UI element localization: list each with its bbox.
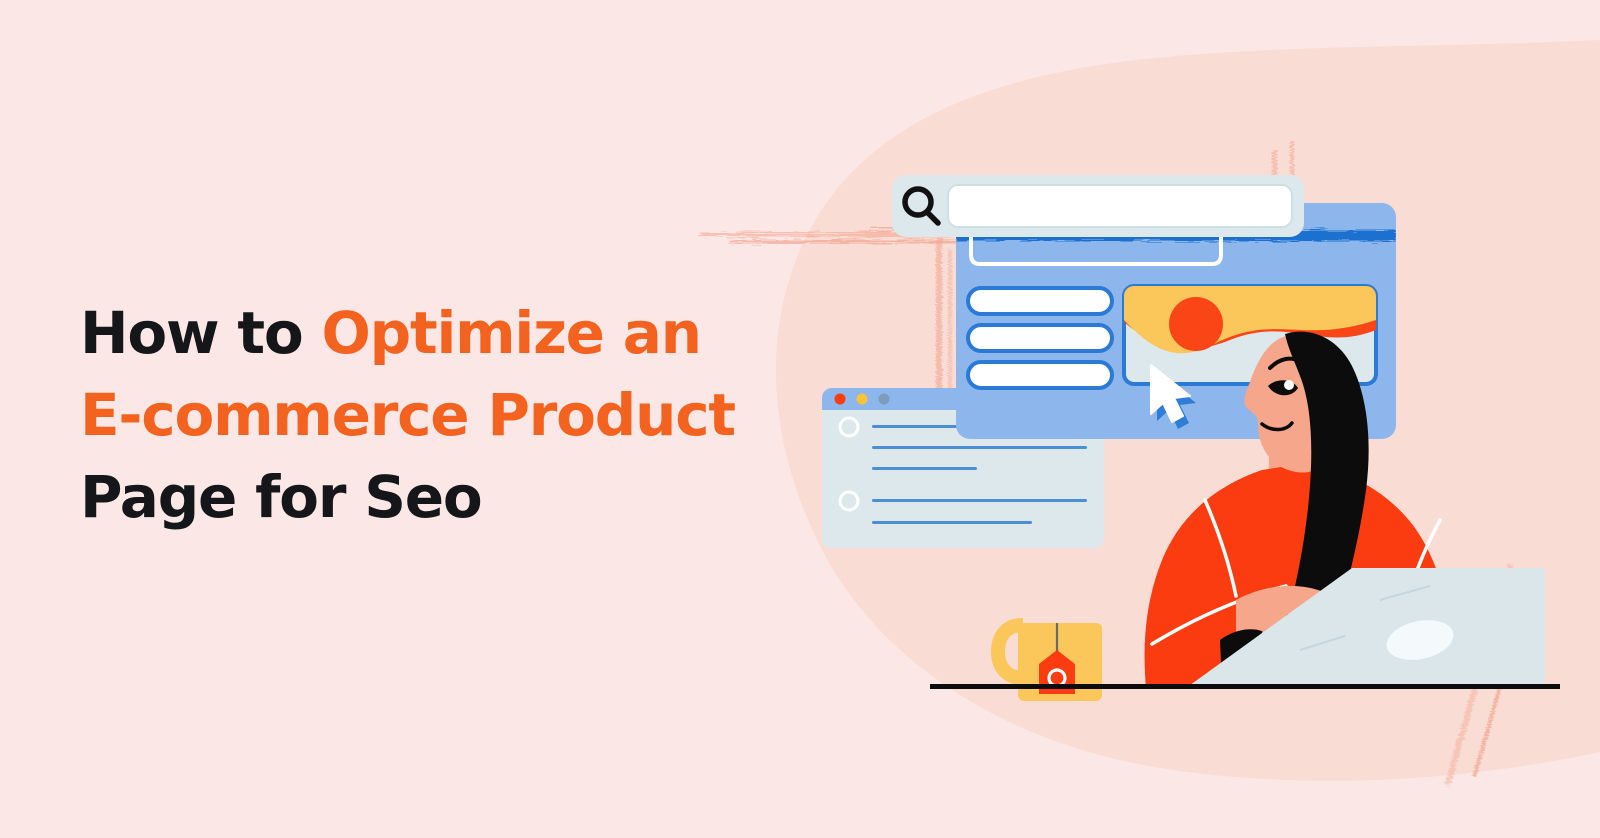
window-maximize-dot[interactable] [879,394,890,405]
headline-line-2: E-commerce Product [80,374,730,456]
search-bar[interactable] [892,175,1304,237]
search-input[interactable] [948,185,1292,227]
text-line [872,499,1087,502]
hero-banner: How to Optimize an E-commerce Product Pa… [0,0,1600,838]
page-title: How to Optimize an E-commerce Product Pa… [80,292,730,538]
headline-accent-1: Optimize an [322,299,701,367]
desk-line-long [930,684,1560,689]
text-line [872,446,1087,449]
window-close-dot[interactable] [835,394,846,405]
panel-row[interactable] [968,288,1112,314]
text-line [872,467,977,470]
headline-line-3: Page for Seo [80,456,730,538]
panel-row[interactable] [968,325,1112,351]
text-line [872,521,1032,524]
headline-line-1: How to Optimize an [80,292,730,374]
card-sun-circle [1169,297,1223,351]
eye-highlight [1284,380,1294,390]
headline-plain-1: How to [80,299,322,367]
panel-row-list [968,288,1112,388]
panel-row[interactable] [968,362,1112,388]
window-minimize-dot[interactable] [857,394,868,405]
